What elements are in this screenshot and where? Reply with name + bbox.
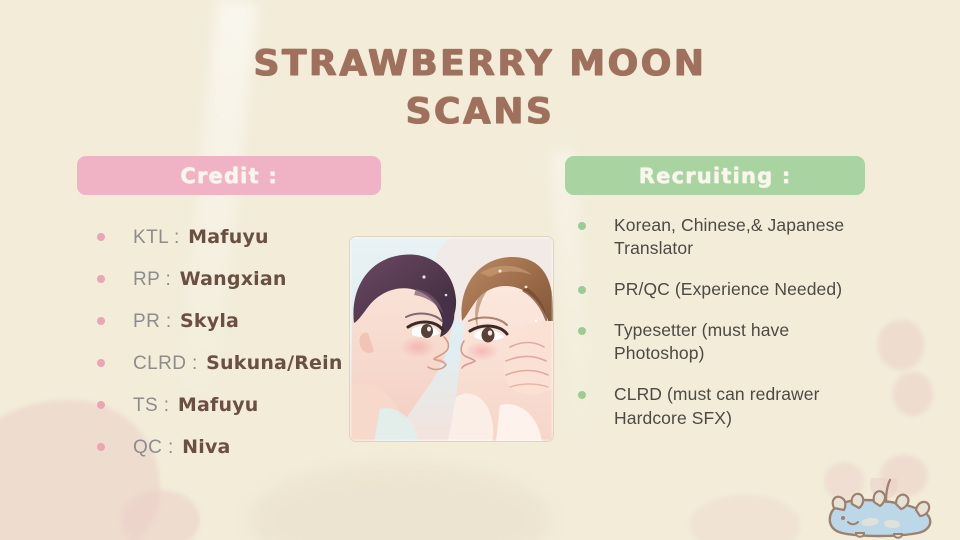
list-item: Korean, Chinese,& Japanese Translator [578,214,878,260]
list-item: RP : Wangxian [97,258,367,300]
list-item: CLRD (must can redrawer Hardcore SFX) [578,383,878,429]
bullet-icon [578,286,586,294]
credit-role-label: CLRD : [133,353,198,374]
title-line-1: STRAWBERRY MOON [0,46,960,82]
credit-name-value: Mafuyu [178,394,259,416]
recruiting-entry: Typesetter (must have Photoshop) [614,319,878,365]
recruiting-entry: CLRD (must can redrawer Hardcore SFX) [614,383,878,429]
bullet-icon [97,317,105,325]
recruiting-heading-label: Recruiting : [639,164,792,188]
credit-name-value: Wangxian [180,268,287,290]
credit-entry: TS : Mafuyu [133,394,259,417]
list-item: KTL : Mafuyu [97,216,367,258]
credit-list: KTL : Mafuyu RP : Wangxian PR : Skyla CL… [97,216,367,468]
list-item: PR/QC (Experience Needed) [578,278,878,301]
background-blob [893,372,933,416]
credit-name-value: Mafuyu [188,226,269,248]
credit-role-label: TS : [133,395,169,416]
credit-name-value: Niva [182,436,230,458]
recruiting-heading-pill: Recruiting : [565,156,865,195]
bullet-icon [97,359,105,367]
list-item: Typesetter (must have Photoshop) [578,319,878,365]
list-item: TS : Mafuyu [97,384,367,426]
background-blob [120,490,200,540]
bullet-icon [578,391,586,399]
credit-heading-label: Credit : [180,164,278,188]
couple-illustration [350,237,553,441]
credit-role-label: QC : [133,437,174,458]
cartoon-creature-doodle-icon [812,478,952,540]
credit-name-value: Skyla [180,310,239,332]
list-item: PR : Skyla [97,300,367,342]
credit-role-label: PR : [133,311,172,332]
credit-role-label: KTL : [133,227,180,248]
credit-entry: QC : Niva [133,436,231,459]
credit-entry: PR : Skyla [133,310,239,333]
bullet-icon [97,275,105,283]
bullet-icon [97,233,105,241]
background-blob [250,465,550,540]
title-line-2: SCANS [0,94,960,130]
background-blob [690,495,800,540]
page-title: STRAWBERRY MOON SCANS [0,46,960,130]
list-item: CLRD : Sukuna/Rein [97,342,367,384]
recruiting-list: Korean, Chinese,& Japanese Translator PR… [578,214,878,448]
credit-entry: RP : Wangxian [133,268,287,291]
bullet-icon [578,222,586,230]
credit-entry: CLRD : Sukuna/Rein [133,352,343,375]
credit-name-value: Sukuna/Rein [206,352,342,374]
bullet-icon [97,401,105,409]
credit-role-label: RP : [133,269,171,290]
recruiting-entry: PR/QC (Experience Needed) [614,278,842,301]
bullet-icon [97,443,105,451]
bullet-icon [578,327,586,335]
list-item: QC : Niva [97,426,367,468]
credit-heading-pill: Credit : [77,156,381,195]
credit-entry: KTL : Mafuyu [133,226,269,249]
recruiting-entry: Korean, Chinese,& Japanese Translator [614,214,878,260]
background-blob [878,320,924,370]
